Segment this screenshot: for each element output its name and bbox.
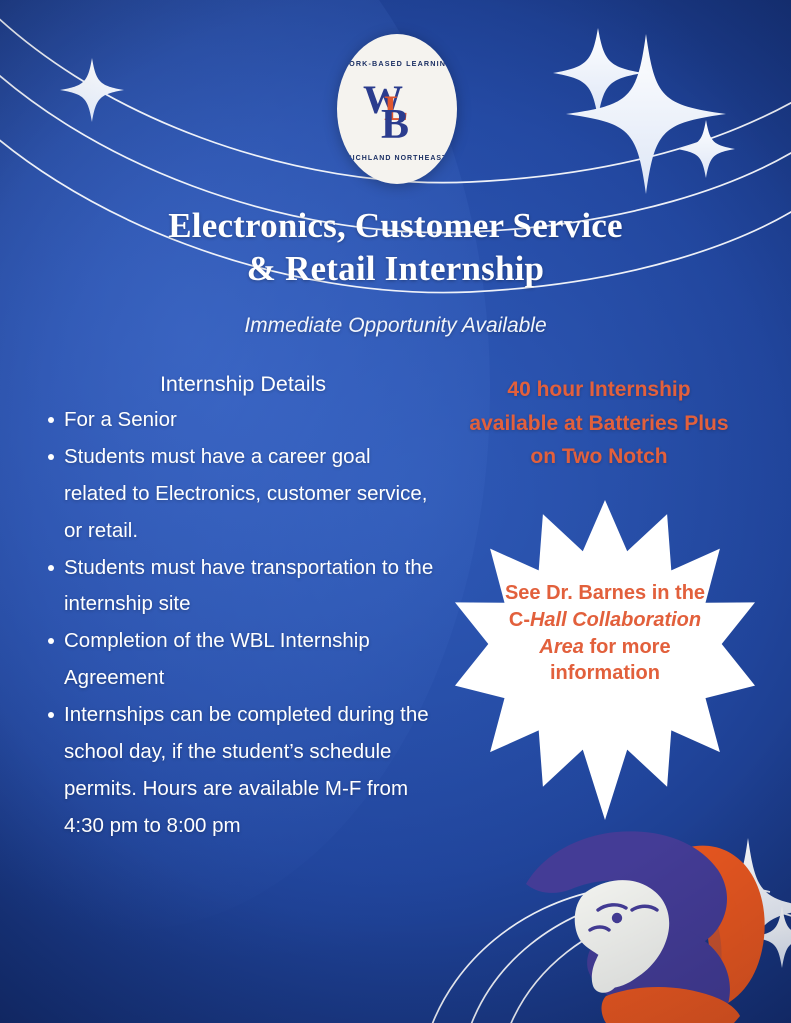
cavalier-mascot-icon bbox=[520, 818, 791, 1023]
internship-details-column: Internship Details For a Senior Students… bbox=[28, 372, 434, 845]
logo-bottom-text: RICHLAND NORTHEAST bbox=[337, 155, 457, 162]
logo-top-text: WORK-BASED LEARNING bbox=[337, 59, 457, 68]
title-line-1: Electronics, Customer Service bbox=[60, 204, 731, 247]
details-bullet-list: For a Senior Students must have a career… bbox=[28, 402, 434, 845]
logo-monogram: W L B bbox=[337, 78, 457, 158]
starburst-callout: See Dr. Barnes in the C-Hall Collaborati… bbox=[455, 500, 755, 820]
callout-text: See Dr. Barnes in the C-Hall Collaborati… bbox=[503, 580, 707, 687]
list-item: Students must have transportation to the… bbox=[28, 550, 434, 624]
title-line-2: & Retail Internship bbox=[60, 247, 731, 290]
sparkle-icon-top-right-small bbox=[553, 28, 643, 118]
wbl-logo: WORK-BASED LEARNING W L B RICHLAND NORTH… bbox=[337, 34, 457, 184]
promo-text: 40 hour Internship available at Batterie… bbox=[424, 373, 774, 474]
page-subtitle: Immediate Opportunity Available bbox=[60, 314, 731, 338]
promo-line-1: 40 hour Internship bbox=[424, 373, 774, 407]
logo-letter-b: B bbox=[381, 104, 409, 146]
list-item: For a Senior bbox=[28, 402, 434, 439]
list-item: Internships can be completed during the … bbox=[28, 697, 434, 845]
sparkle-icon-top-right-tiny bbox=[677, 120, 735, 178]
details-heading: Internship Details bbox=[28, 372, 434, 402]
promo-line-2: available at Batteries Plus bbox=[424, 407, 774, 441]
flyer-poster: WORK-BASED LEARNING W L B RICHLAND NORTH… bbox=[0, 0, 791, 1023]
list-item: Completion of the WBL Internship Agreeme… bbox=[28, 623, 434, 697]
promo-line-3: on Two Notch bbox=[424, 440, 774, 474]
page-title: Electronics, Customer Service & Retail I… bbox=[60, 204, 731, 291]
sparkle-icon-top-right-large bbox=[566, 34, 726, 194]
list-item: Students must have a career goal related… bbox=[28, 439, 434, 550]
mascot-eye bbox=[612, 913, 622, 923]
sparkle-icon-top-left bbox=[60, 58, 124, 122]
